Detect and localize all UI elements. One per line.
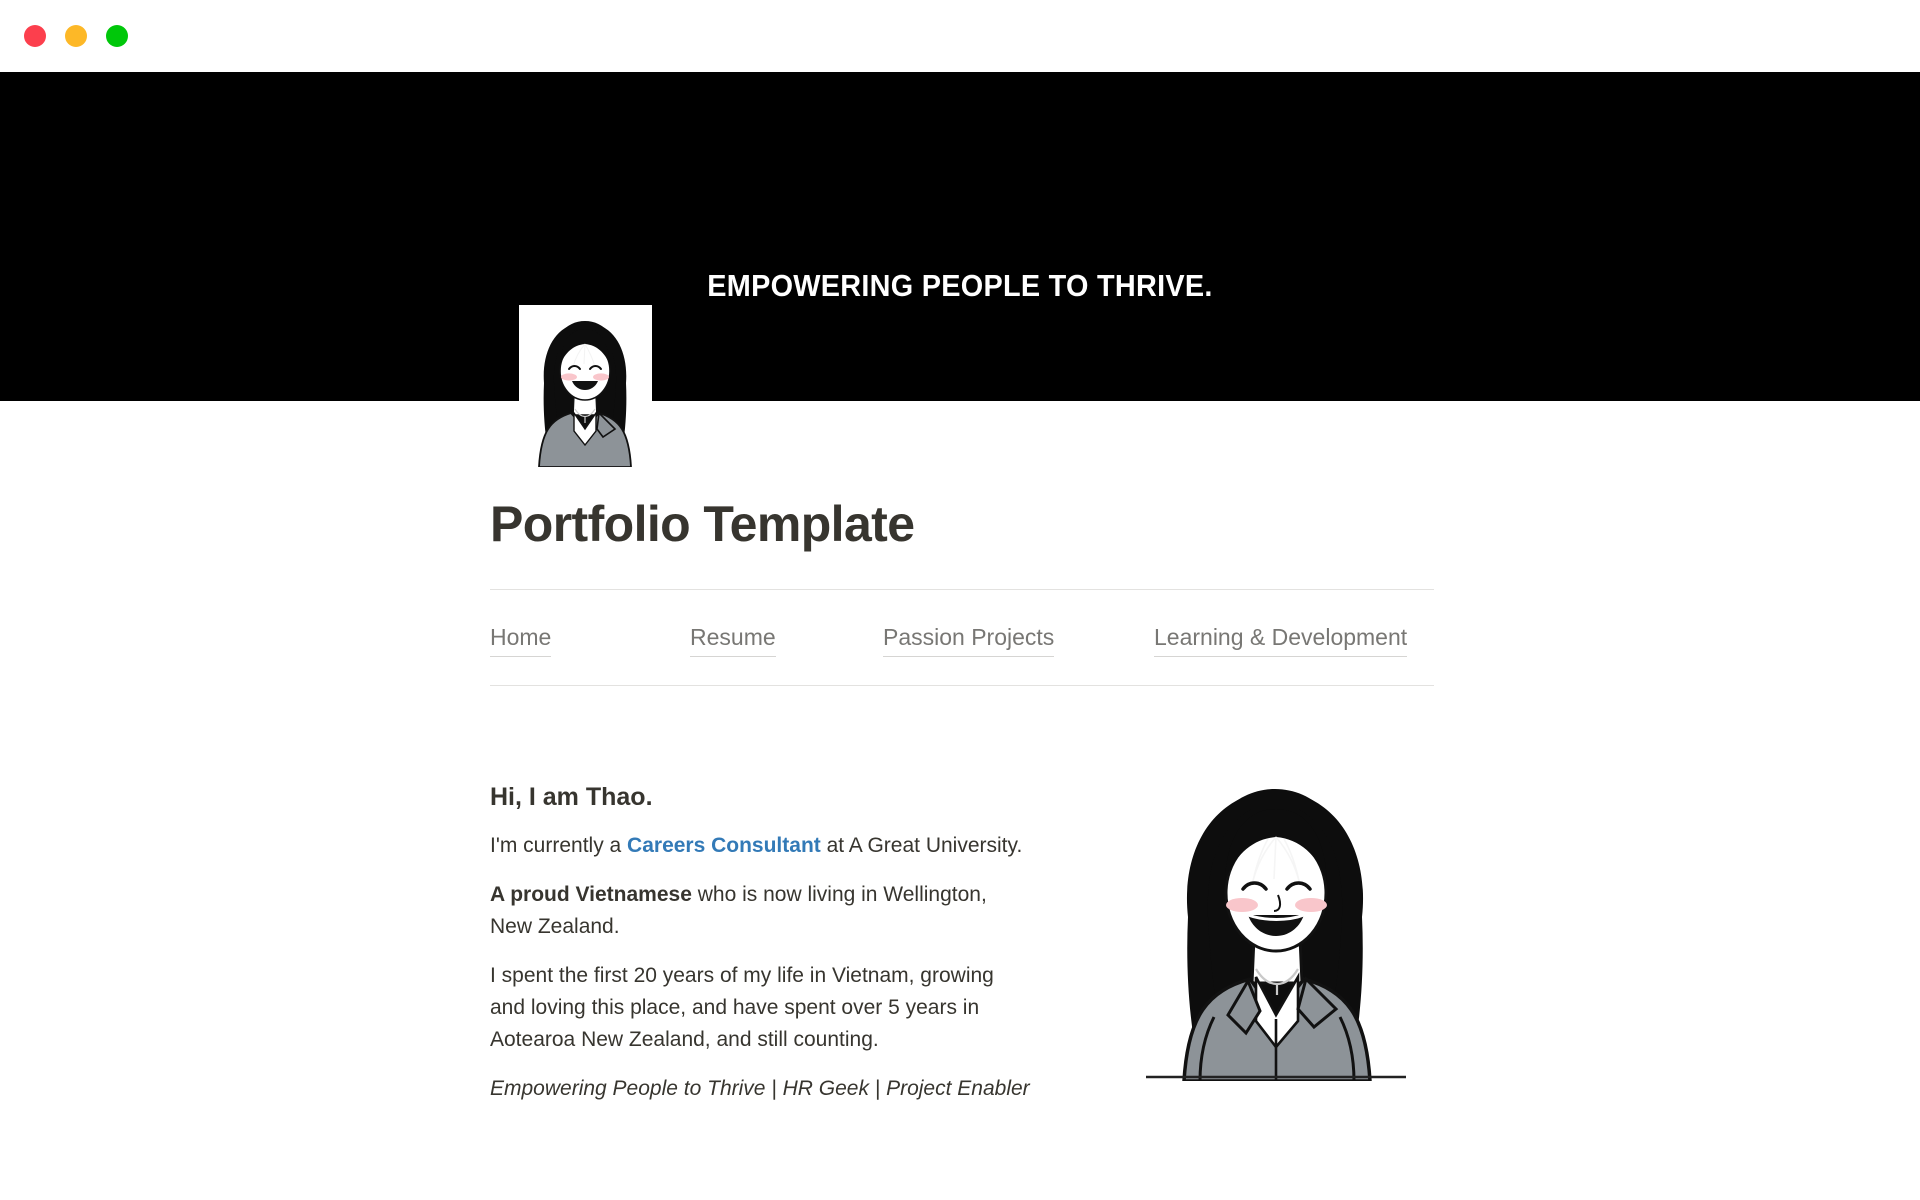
nav-bar: Home Resume Passion Projects Learning & … xyxy=(490,621,1434,665)
intro-paragraph-story: I spent the first 20 years of my life in… xyxy=(490,960,1030,1056)
intro-role-prefix: I'm currently a xyxy=(490,834,627,857)
intro-heading: Hi, I am Thao. xyxy=(490,781,1030,814)
hero-banner: EMPOWERING PEOPLE TO THRIVE. xyxy=(0,72,1920,401)
close-window-button[interactable] xyxy=(24,25,46,47)
avatar-illustration-icon xyxy=(511,309,659,467)
intro-text-block: Hi, I am Thao. I'm currently a Careers C… xyxy=(490,781,1030,1105)
hero-portrait-illustration-icon xyxy=(1130,771,1420,1081)
traffic-light-controls xyxy=(24,25,128,47)
nav-item-passion-projects[interactable]: Passion Projects xyxy=(883,621,1054,657)
nav-divider-bottom xyxy=(490,685,1434,686)
intro-paragraph-origin: A proud Vietnamese who is now living in … xyxy=(490,879,1030,943)
browser-window: EMPOWERING PEOPLE TO THRIVE. xyxy=(0,0,1920,1200)
nav-item-learning-development[interactable]: Learning & Development xyxy=(1154,621,1407,657)
nav-divider-top xyxy=(490,589,1434,590)
page-body: Portfolio Template Home Resume Passion P… xyxy=(0,401,1920,1200)
careers-consultant-link[interactable]: Careers Consultant xyxy=(627,834,821,857)
intro-paragraph-role: I'm currently a Careers Consultant at A … xyxy=(490,830,1030,862)
nav-item-home[interactable]: Home xyxy=(490,621,551,657)
intro-section: Hi, I am Thao. I'm currently a Careers C… xyxy=(490,781,1434,1105)
intro-role-suffix: at A Great University. xyxy=(821,834,1023,857)
maximize-window-button[interactable] xyxy=(106,25,128,47)
banner-tagline: EMPOWERING PEOPLE TO THRIVE. xyxy=(67,268,1853,304)
avatar xyxy=(519,305,652,438)
minimize-window-button[interactable] xyxy=(65,25,87,47)
intro-tagline-italic: Empowering People to Thrive | HR Geek | … xyxy=(490,1077,1030,1100)
intro-paragraph-tagline: Empowering People to Thrive | HR Geek | … xyxy=(490,1073,1030,1105)
window-titlebar xyxy=(0,0,1920,72)
intro-origin-bold: A proud Vietnamese xyxy=(490,883,692,906)
page-title: Portfolio Template xyxy=(490,497,914,552)
nav-item-resume[interactable]: Resume xyxy=(690,621,776,657)
